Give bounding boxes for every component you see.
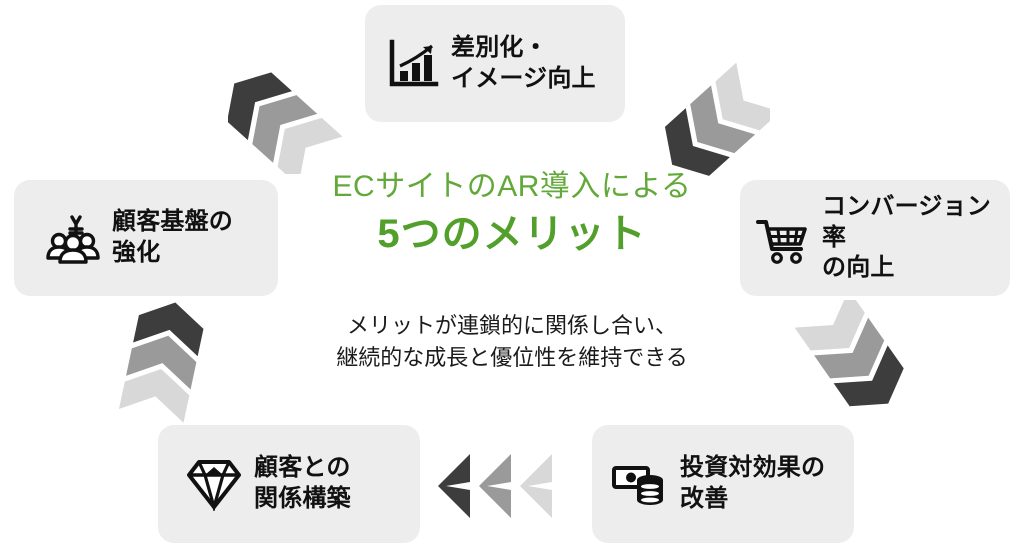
benefit-card-label: 投資対効果の 改善 (680, 453, 825, 514)
benefit-card-roi-improvement[interactable]: 投資対効果の 改善 (592, 425, 854, 543)
chevron-arrow-down-right (640, 52, 770, 187)
chevron-arrow-up-right (228, 44, 348, 174)
benefit-card-differentiation[interactable]: 差別化・ イメージ向上 (365, 5, 625, 122)
center-title-line2: 5つのメリット (262, 208, 762, 260)
money-coins-icon (612, 460, 668, 508)
benefit-card-label: コンバージョン率 の向上 (822, 192, 1000, 284)
center-subtitle: メリットが連鎖的に関係し合い、 継続的な成長と優位性を維持できる (262, 310, 762, 374)
people-yen-icon (44, 210, 100, 266)
benefit-card-label: 顧客基盤の 強化 (112, 207, 233, 268)
benefit-card-conversion-rate[interactable]: コンバージョン率 の向上 (740, 180, 1010, 296)
bar-chart-growth-icon (387, 38, 439, 90)
shopping-cart-icon (756, 211, 810, 265)
chevron-arrow-left (436, 450, 564, 522)
chevron-arrow-down-left (782, 300, 907, 430)
diamond-icon (186, 457, 242, 511)
chevron-arrow-up (112, 296, 222, 426)
center-title-block: ECサイトのAR導入による 5つのメリット (262, 168, 762, 260)
benefit-card-customer-relationship[interactable]: 顧客との 関係構築 (158, 425, 420, 543)
benefit-card-customer-base[interactable]: 顧客基盤の 強化 (14, 180, 278, 296)
center-title-line1: ECサイトのAR導入による (262, 168, 762, 206)
benefit-card-label: 顧客との 関係構築 (254, 453, 351, 514)
benefit-card-label: 差別化・ イメージ向上 (451, 33, 596, 94)
diagram-canvas: 差別化・ イメージ向上 コンバージョン率 の向上 (0, 0, 1024, 551)
